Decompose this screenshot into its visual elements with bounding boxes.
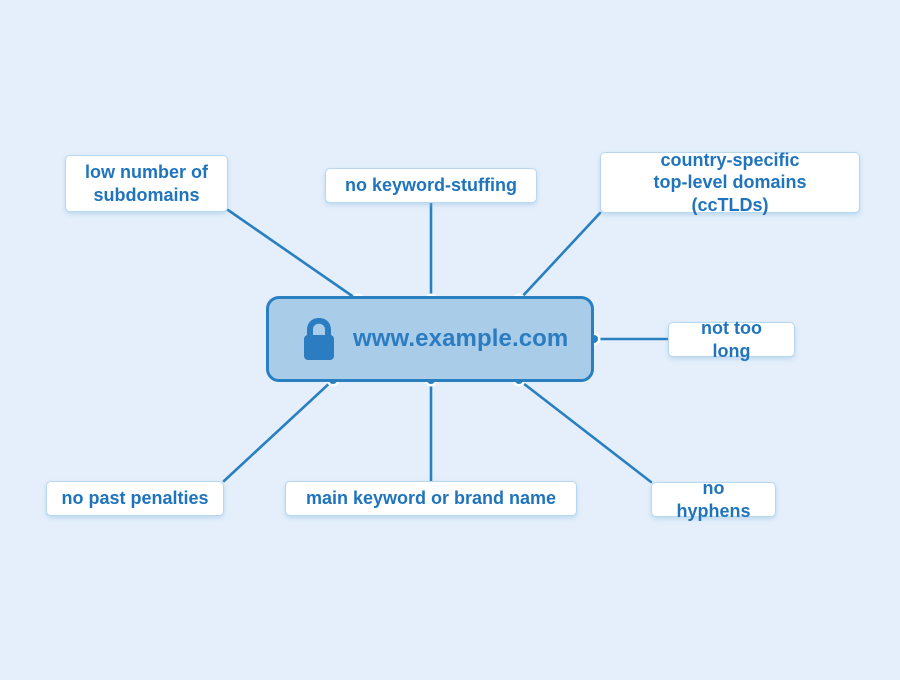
leaf-node-keyword-stuffing[interactable]: no keyword-stuffing	[325, 168, 537, 203]
leaf-label: low number of subdomains	[72, 161, 221, 206]
leaf-label: country-specific top-level domains (ccTL…	[601, 149, 859, 217]
connector-line-cctlds	[519, 213, 600, 300]
leaf-node-subdomains[interactable]: low number of subdomains	[65, 155, 228, 212]
leaf-label: not too long	[669, 317, 794, 362]
leaf-label: no keyword-stuffing	[332, 174, 530, 197]
central-node-label: www.example.com	[353, 325, 568, 353]
leaf-node-no-hyphens[interactable]: no hyphens	[651, 482, 776, 517]
connector-line-penalties	[224, 380, 333, 481]
leaf-node-past-penalties[interactable]: no past penalties	[46, 481, 224, 516]
mindmap-canvas: www.example.com low number of subdomains…	[0, 0, 900, 680]
leaf-node-main-keyword[interactable]: main keyword or brand name	[285, 481, 577, 516]
leaf-label: main keyword or brand name	[293, 487, 569, 510]
connector-line-no-hyphens	[519, 380, 651, 482]
leaf-node-not-too-long[interactable]: not too long	[668, 322, 795, 357]
lock-icon	[299, 316, 339, 362]
leaf-label: no past penalties	[48, 487, 221, 510]
leaf-node-cctlds[interactable]: country-specific top-level domains (ccTL…	[600, 152, 860, 213]
connector-line-subdomains	[228, 210, 358, 300]
leaf-label: no hyphens	[652, 477, 775, 522]
central-node[interactable]: www.example.com	[266, 296, 594, 382]
